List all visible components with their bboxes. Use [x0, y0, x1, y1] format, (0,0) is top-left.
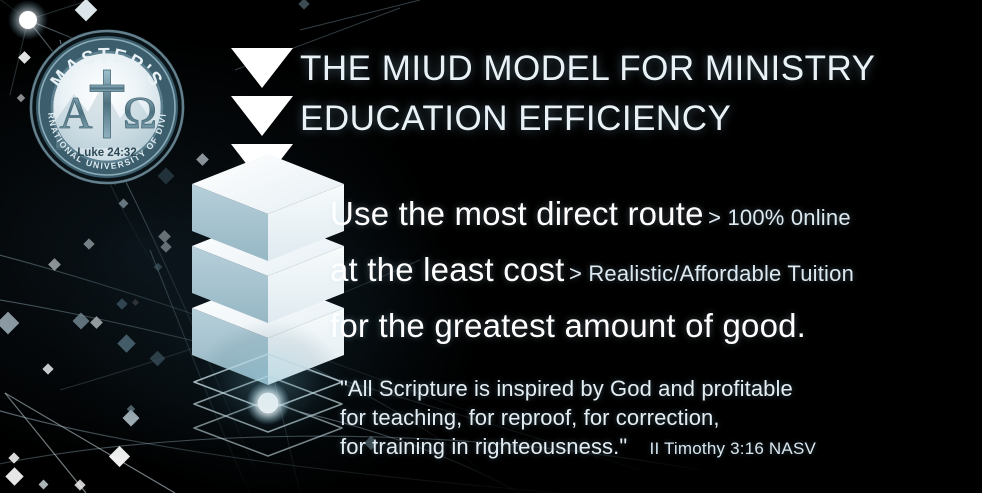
- statement-sub-1: > 100% 0nline: [708, 205, 851, 230]
- svg-text:A: A: [59, 87, 92, 138]
- title-line-2: EDUCATION EFFICIENCY: [300, 94, 960, 144]
- statement-row-1: Use the most direct route > 100% 0nline: [330, 192, 980, 236]
- svg-text:Ω: Ω: [123, 87, 157, 138]
- scripture-line-3: for training in righteousness.": [340, 434, 627, 459]
- statement-main-1: Use the most direct route: [330, 195, 704, 232]
- triangle-down-icon: [231, 96, 293, 136]
- statement-main-3: for the greatest amount of good.: [330, 307, 806, 344]
- scripture-citation: II Timothy 3:16 NASV: [650, 439, 817, 458]
- scripture-quote: "All Scripture is inspired by God and pr…: [340, 374, 960, 463]
- scripture-line-1: "All Scripture is inspired by God and pr…: [340, 374, 960, 403]
- miud-model-banner: MASTER'S INTERNATIONAL UNIVERSITY OF DIV…: [0, 0, 982, 493]
- statement-sub-2: > Realistic/Affordable Tuition: [569, 261, 854, 286]
- statement-row-2: at the least cost > Realistic/Affordable…: [330, 248, 980, 292]
- title-line-1: THE MIUD MODEL FOR MINISTRY: [300, 44, 960, 94]
- page-title: THE MIUD MODEL FOR MINISTRY EDUCATION EF…: [300, 44, 960, 144]
- triangle-down-icon: [231, 48, 293, 88]
- masters-seal-logo: MASTER'S INTERNATIONAL UNIVERSITY OF DIV…: [28, 28, 186, 186]
- model-statement: Use the most direct route > 100% 0nline …: [330, 192, 980, 360]
- scripture-line-2: for teaching, for reproof, for correctio…: [340, 403, 960, 432]
- statement-row-3: for the greatest amount of good.: [330, 304, 980, 348]
- statement-main-2: at the least cost: [330, 251, 565, 288]
- seal-verse-text: Luke 24:32: [77, 147, 136, 159]
- scripture-line-3-row: for training in righteousness." II Timot…: [340, 432, 960, 463]
